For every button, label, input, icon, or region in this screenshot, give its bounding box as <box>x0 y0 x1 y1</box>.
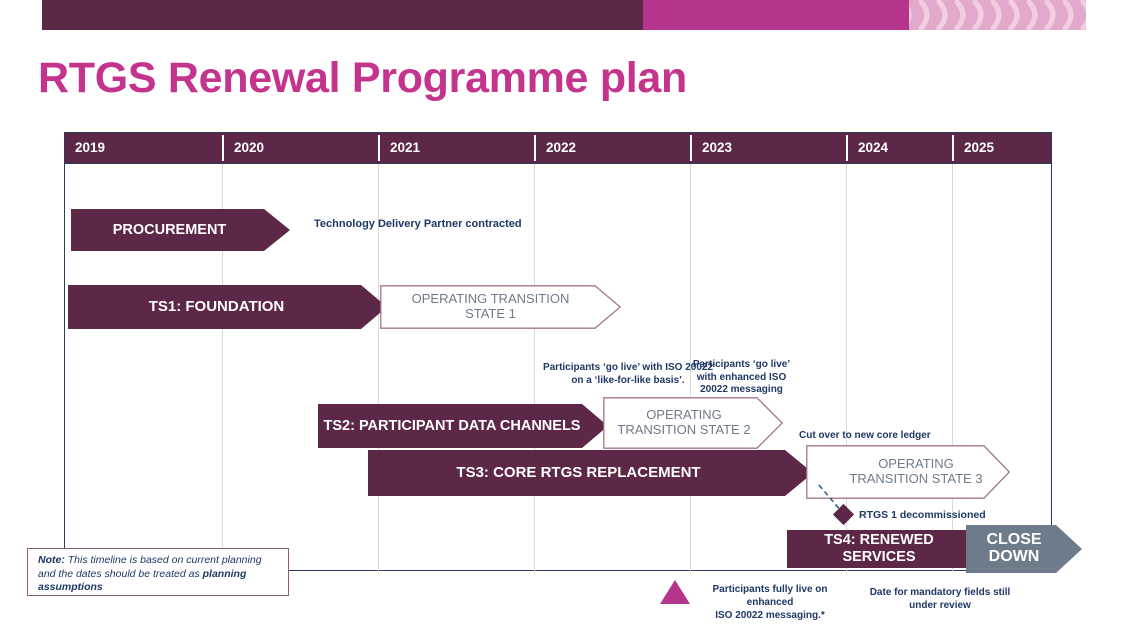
banner-segment-braid-pattern <box>909 0 1086 30</box>
bar-label: TS2: PARTICIPANT DATA CHANNELS <box>324 418 581 435</box>
bar-label: TS1: FOUNDATION <box>149 298 285 315</box>
bar-label: PROCUREMENT <box>113 222 227 239</box>
timeline-chart: 2019 2020 2021 2022 2023 2024 2025 <box>64 132 1052 571</box>
bar-label-line1: OPERATING <box>646 407 722 422</box>
banner-segment-magenta <box>643 0 909 30</box>
bar-label: OPERATING TRANSITION STATE 2 <box>617 408 750 438</box>
planning-assumptions-note: Note: This timeline is based on current … <box>27 548 289 596</box>
bar-close-down[interactable]: CLOSE DOWN <box>966 525 1082 573</box>
bar-ts1-foundation[interactable]: TS1: FOUNDATION <box>68 285 387 329</box>
milestone-label-rtgs1-decommissioned: RTGS 1 decommissioned <box>859 509 1059 522</box>
legend-line2: under review <box>909 600 971 611</box>
legend-item-participants-fully-live: Participants fully live on enhanced ISO … <box>690 583 850 622</box>
bar-label-line1: OPERATING TRANSITION <box>412 291 570 306</box>
milestone-line2: with enhanced ISO <box>697 372 786 383</box>
year-cell-2019: 2019 <box>65 133 222 163</box>
timeline-year-header: 2019 2020 2021 2022 2023 2024 2025 <box>64 132 1052 164</box>
year-cell-2021: 2021 <box>380 133 535 163</box>
bar-label-line1: OPERATING <box>878 456 954 471</box>
bar-label-line2: TRANSITION STATE 3 <box>849 471 982 486</box>
page-title: RTGS Renewal Programme plan <box>38 54 687 103</box>
bar-label-line2: STATE 1 <box>465 306 516 321</box>
year-cell-2025: 2025 <box>954 133 1053 163</box>
bar-label: OPERATING TRANSITION STATE 1 <box>412 292 570 322</box>
legend-triangle-magenta-marker-icon <box>660 580 690 604</box>
bar-label-line1: CLOSE <box>986 531 1041 548</box>
milestone-line1: Participants ‘go live’ <box>693 359 790 370</box>
bar-ts2-participant-data-channels[interactable]: TS2: PARTICIPANT DATA CHANNELS <box>318 404 608 448</box>
year-cell-2020: 2020 <box>224 133 379 163</box>
top-banner <box>42 0 1086 30</box>
note-lead: Note: <box>38 554 65 566</box>
year-cell-2023: 2023 <box>692 133 847 163</box>
bar-operating-transition-state-1[interactable]: OPERATING TRANSITION STATE 1 <box>380 285 621 329</box>
banner-segment-dark <box>42 0 643 30</box>
milestone-label-golive-enhanced: Participants ‘go live’ with enhanced ISO… <box>679 359 804 397</box>
bar-procurement[interactable]: PROCUREMENT <box>71 209 290 251</box>
legend-item-mandatory-fields-review: Date for mandatory fields still under re… <box>860 586 1020 612</box>
milestone-label-cut-over: Cut over to new core ledger <box>799 430 999 443</box>
bar-label-line2: DOWN <box>989 548 1040 565</box>
bar-operating-transition-state-2[interactable]: OPERATING TRANSITION STATE 2 <box>603 397 783 449</box>
legend-line1: Participants fully live on enhanced <box>712 584 827 608</box>
bar-label: TS4: RENEWED SERVICES <box>787 532 971 565</box>
milestone-label-tdp-contracted: Technology Delivery Partner contracted <box>314 218 564 232</box>
bar-ts3-core-rtgs-replacement[interactable]: TS3: CORE RTGS REPLACEMENT <box>368 450 813 496</box>
legend-line2: ISO 20022 messaging.* <box>715 610 825 621</box>
year-cell-2022: 2022 <box>536 133 691 163</box>
bar-label: OPERATING TRANSITION STATE 3 <box>849 457 982 487</box>
braid-pattern-icon <box>909 0 1086 30</box>
legend-line1: Date for mandatory fields still <box>870 587 1011 598</box>
milestone-line2: on a ‘like-for-like basis’. <box>571 375 684 386</box>
bar-label: CLOSE DOWN <box>986 532 1041 566</box>
bar-ts4-renewed-services[interactable]: TS4: RENEWED SERVICES <box>787 530 987 568</box>
bar-label-line2: TRANSITION STATE 2 <box>617 422 750 437</box>
bar-label: TS3: CORE RTGS REPLACEMENT <box>456 464 700 481</box>
year-cell-2024: 2024 <box>848 133 953 163</box>
slide-root: RTGS Renewal Programme plan 2019 2020 20… <box>0 0 1128 635</box>
milestone-line3: 20022 messaging <box>700 384 783 395</box>
